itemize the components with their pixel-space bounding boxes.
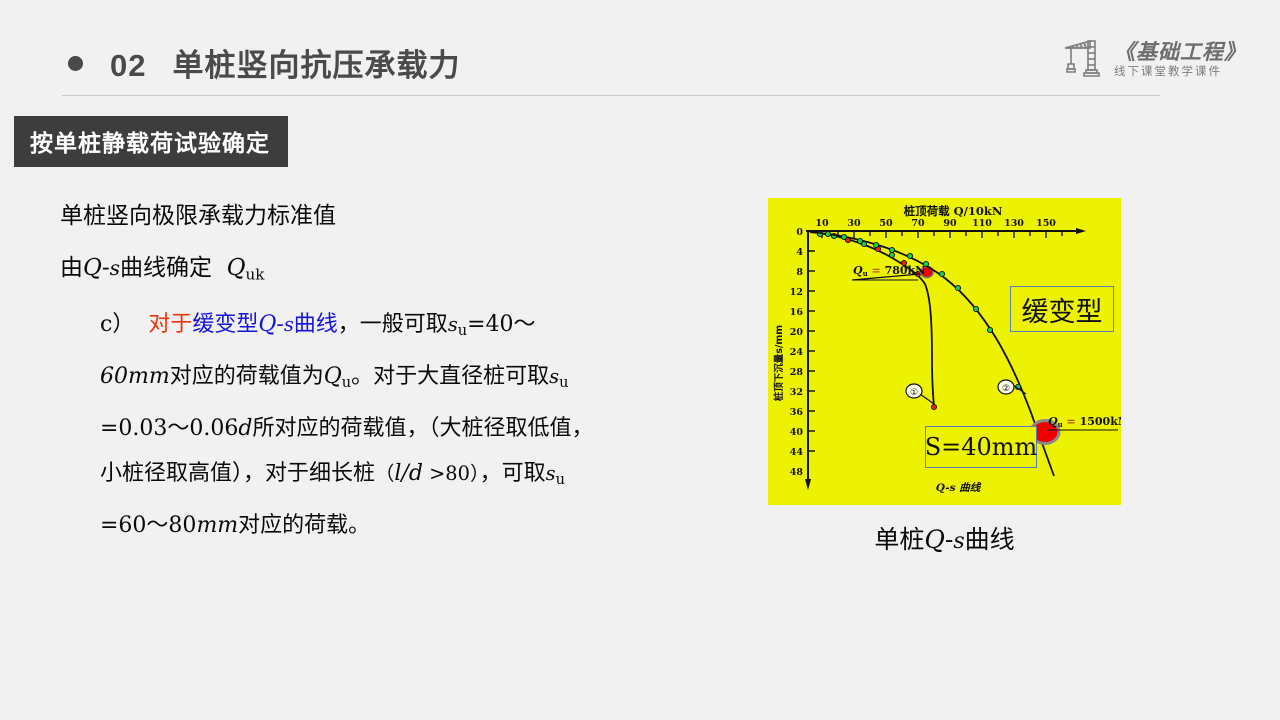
lead2-dash: - bbox=[102, 255, 110, 281]
svg-text:32: 32 bbox=[790, 387, 803, 398]
page-title: 02单桩竖向抗压承载力 bbox=[110, 40, 460, 85]
logo-subtitle: 线下课堂教学课件 bbox=[1114, 67, 1246, 79]
paragraph-ld-open: （ bbox=[375, 462, 394, 485]
logo-title: 《基础工程》 bbox=[1114, 41, 1246, 62]
paragraph-su2-s: s bbox=[549, 365, 559, 388]
chart-series-1-line bbox=[810, 232, 934, 406]
chart-xaxis-labels: 10 30 50 70 90 110 130 150 bbox=[815, 218, 1056, 229]
svg-text:40: 40 bbox=[790, 427, 804, 438]
paragraph-t7a: 所对应的荷载值，（大桩径取低值， bbox=[253, 416, 594, 441]
svg-text:30: 30 bbox=[847, 218, 861, 229]
chart-annotation-qu1: Qu = 780kN bbox=[852, 264, 925, 280]
svg-text:②: ② bbox=[1002, 384, 1010, 394]
lead2-symbol-q: Q bbox=[227, 255, 246, 281]
svg-text:44: 44 bbox=[790, 447, 804, 458]
svg-text:130: 130 bbox=[1004, 218, 1024, 229]
paragraph-line-2: 60mm对应的荷载值为Qu。对于大直径桩可取su bbox=[100, 354, 740, 406]
paragraph-t8: ，可取 bbox=[480, 461, 546, 486]
svg-text:8: 8 bbox=[796, 267, 803, 278]
paragraph-blue-s: s bbox=[284, 313, 294, 336]
svg-text:4: 4 bbox=[796, 247, 803, 258]
paragraph-line-4: 小桩径取高值），对于细长桩（l/d >80），可取su bbox=[100, 451, 740, 503]
chart-label-box-type: 缓变型 bbox=[1010, 286, 1114, 332]
paragraph-t1: ，一般可取 bbox=[338, 312, 448, 337]
paragraph-blue-dash: - bbox=[276, 312, 283, 337]
paragraph-mm-2: mm bbox=[196, 513, 238, 538]
svg-text:12: 12 bbox=[790, 287, 803, 298]
paragraph-marker: c） bbox=[100, 312, 134, 337]
paragraph-qu-sub: u bbox=[342, 375, 351, 391]
bullet-dot-icon bbox=[68, 56, 83, 71]
paragraph-line-5: =60～80mm对应的荷载。 bbox=[100, 503, 740, 548]
paragraph-ld-d: d bbox=[409, 461, 423, 486]
paragraph-red-text: 对于 bbox=[148, 312, 192, 337]
svg-text:48: 48 bbox=[790, 467, 804, 478]
lead2-symbol-sub: uk bbox=[246, 265, 265, 283]
figure-caption-prefix: 单桩 bbox=[874, 525, 924, 554]
paragraph-qu-q: Q bbox=[324, 364, 342, 389]
main-paragraph: c） 对于缓变型Q-s曲线，一般可取su=40～ 60mm对应的荷载值为Qu。对… bbox=[100, 302, 740, 548]
svg-text:Qu = 780kN: Qu = 780kN bbox=[853, 264, 925, 278]
paragraph-blue-text-1: 缓变型 bbox=[192, 312, 258, 337]
chart-callout-1: ① bbox=[906, 384, 934, 404]
paragraph-mm-1: mm bbox=[128, 364, 170, 389]
lead-line-1: 单桩竖向极限承载力标准值 bbox=[60, 196, 336, 230]
paragraph-t10: 对应的荷载。 bbox=[238, 513, 370, 538]
paragraph-t2: =40～ bbox=[467, 312, 535, 337]
slide-root: 02单桩竖向抗压承载力 bbox=[0, 0, 1280, 720]
svg-text:24: 24 bbox=[790, 347, 804, 358]
figure-caption-suffix: 曲线 bbox=[965, 525, 1015, 554]
paragraph-t4: 对应的荷载值为 bbox=[170, 364, 324, 389]
section-tag: 按单桩静载荷试验确定 bbox=[14, 116, 288, 167]
svg-text:50: 50 bbox=[879, 218, 893, 229]
paragraph-su2-sub: u bbox=[559, 375, 568, 391]
course-logo: 《基础工程》 线下课堂教学课件 bbox=[1060, 34, 1246, 86]
paragraph-line-1: c） 对于缓变型Q-s曲线，一般可取su=40～ bbox=[100, 302, 740, 354]
chart-xaxis-arrow bbox=[1076, 228, 1086, 234]
paragraph-t5: 。对于大直径桩可取 bbox=[351, 364, 549, 389]
lead-line-2: 由Q-s曲线确定 Quk bbox=[60, 248, 264, 283]
figure-caption-s: s bbox=[953, 529, 964, 554]
chart-xaxis-ticks bbox=[822, 231, 1062, 238]
paragraph-d-italic: d bbox=[238, 416, 252, 441]
lead2-q: Q bbox=[83, 255, 102, 281]
paragraph-t7b: 小桩径取高值），对于细长桩 bbox=[100, 461, 375, 486]
qs-curve-figure: 桩顶荷载 Q/10kN bbox=[768, 198, 1121, 505]
chart-annotation-qu2: Qu = 1500kN bbox=[1047, 415, 1121, 430]
chart-series-2-points bbox=[825, 231, 1020, 389]
svg-text:150: 150 bbox=[1036, 218, 1056, 229]
svg-text:0: 0 bbox=[796, 227, 803, 238]
paragraph-ld-slash: / bbox=[401, 461, 408, 486]
paragraph-su3-sub: u bbox=[556, 472, 565, 488]
chart-yaxis-labels: 0 4 8 12 16 20 24 28 32 36 40 44 48 bbox=[790, 227, 804, 478]
paragraph-line-3: =0.03～0.06d所对应的荷载值，（大桩径取低值， bbox=[100, 406, 740, 451]
paragraph-t3: 60 bbox=[100, 364, 128, 389]
chart-inner-caption: Q-s 曲线 bbox=[936, 481, 982, 494]
svg-text:36: 36 bbox=[790, 407, 804, 418]
paragraph-su1-s: s bbox=[448, 313, 458, 336]
svg-text:16: 16 bbox=[790, 307, 804, 318]
header-divider bbox=[62, 95, 1160, 96]
paragraph-t9: =60～80 bbox=[100, 513, 196, 538]
slide-header: 02单桩竖向抗压承载力 bbox=[0, 0, 1280, 100]
svg-text:28: 28 bbox=[790, 367, 804, 378]
lead2-prefix: 由 bbox=[60, 255, 83, 281]
page-title-number: 02 bbox=[110, 48, 146, 83]
paragraph-su3-s: s bbox=[546, 462, 556, 485]
svg-text:20: 20 bbox=[790, 327, 804, 338]
page-title-text: 单桩竖向抗压承载力 bbox=[172, 48, 460, 83]
chart-yaxis-arrow bbox=[805, 479, 811, 490]
lead2-s: s bbox=[110, 256, 120, 280]
svg-text:10: 10 bbox=[815, 218, 829, 229]
paragraph-su1-sub: u bbox=[458, 323, 467, 339]
paragraph-blue-q: Q bbox=[258, 312, 276, 337]
paragraph-t6: =0.03～0.06 bbox=[100, 416, 238, 441]
chart-series-1-points bbox=[817, 231, 936, 409]
svg-text:Qu = 1500kN: Qu = 1500kN bbox=[1048, 415, 1121, 429]
logo-text-block: 《基础工程》 线下课堂教学课件 bbox=[1114, 41, 1246, 79]
svg-text:70: 70 bbox=[911, 218, 925, 229]
figure-caption: 单桩Q-s曲线 bbox=[768, 520, 1121, 556]
lead2-mid: 曲线确定 bbox=[120, 255, 212, 281]
figure-caption-q: Q bbox=[924, 525, 945, 554]
pile-driver-crane-icon bbox=[1060, 35, 1110, 85]
svg-text:90: 90 bbox=[943, 218, 957, 229]
chart-yaxis-ticks bbox=[808, 231, 815, 451]
paragraph-ld-gt: >80） bbox=[423, 462, 480, 485]
chart-label-box-settlement: S=40mm bbox=[925, 426, 1037, 468]
chart-yaxis-title: 桩顶下沉量s/mm bbox=[773, 325, 785, 402]
paragraph-blue-text-2: 曲线 bbox=[294, 312, 338, 337]
svg-text:①: ① bbox=[910, 388, 918, 398]
svg-text:110: 110 bbox=[972, 218, 992, 229]
chart-xaxis-title: 桩顶荷载 Q/10kN bbox=[904, 204, 1003, 218]
